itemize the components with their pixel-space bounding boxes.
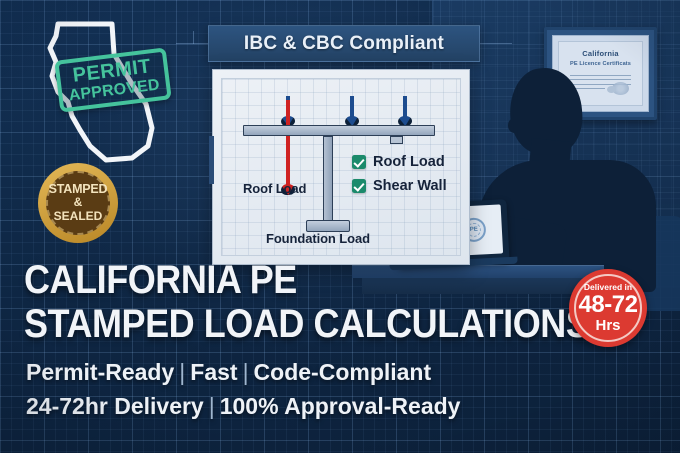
checkbox-roof-load-icon[interactable]: [352, 155, 366, 169]
headline-line-2: STAMPED LOAD CALCULATIONS: [24, 302, 589, 346]
column-element: [323, 136, 333, 224]
red-badge-line-2: 48-72: [579, 293, 638, 317]
red-badge-line-3: Hrs: [595, 318, 620, 333]
gold-badge-core: STAMPED & SEALED: [46, 171, 110, 235]
separator-2: |: [238, 359, 254, 385]
subheadline-row-1: Permit-Ready|Fast|Code-Compliant: [26, 357, 431, 387]
checklist-label-shear-wall: Shear Wall: [373, 178, 447, 194]
roof-load-label: Roof Load: [243, 181, 306, 196]
gold-badge-line-1: STAMPED: [49, 182, 108, 196]
separator-3: |: [204, 393, 220, 419]
banner-connector-drop: [193, 31, 194, 44]
feature-fast: Fast: [190, 359, 237, 385]
checklist-item-shear-wall[interactable]: Shear Wall: [352, 178, 447, 194]
gold-badge-line-2: & SEALED: [48, 196, 108, 224]
whiteboard-side-tab: [209, 136, 214, 184]
feature-code-compliant: Code-Compliant: [254, 359, 432, 385]
silhouette-ear: [508, 118, 520, 133]
subheadline-row-2: 24-72hr Delivery|100% Approval-Ready: [26, 391, 460, 421]
banner-connector-right: [479, 43, 512, 44]
compliance-banner: IBC & CBC Compliant: [208, 25, 480, 62]
red-badge-core: Delivered in 48-72 Hrs: [574, 274, 642, 342]
delivery-time-badge: Delivered in 48-72 Hrs: [566, 266, 650, 350]
stamped-sealed-badge: STAMPED & SEALED: [35, 160, 121, 246]
beam-support-block: [390, 136, 403, 144]
headline-line-1: CALIFORNIA PE: [24, 258, 589, 302]
red-badge-line-1: Delivered in: [584, 283, 632, 292]
feature-permit-ready: Permit-Ready: [26, 359, 174, 385]
checklist-label-roof-load: Roof Load: [373, 154, 445, 170]
promo-banner-image: California PE Licence Certificats: [0, 0, 680, 453]
certificate-title: California: [582, 49, 619, 58]
checkbox-shear-wall-icon[interactable]: [352, 179, 366, 193]
compliance-banner-label: IBC & CBC Compliant: [244, 33, 444, 55]
checklist-item-roof-load[interactable]: Roof Load: [352, 154, 445, 170]
headline: CALIFORNIA PE STAMPED LOAD CALCULATIONS: [24, 258, 652, 346]
foundation-load-label: Foundation Load: [266, 231, 370, 246]
feature-approval-ready: 100% Approval-Ready: [220, 393, 461, 419]
feature-delivery: 24-72hr Delivery: [26, 393, 204, 419]
certificate-subtitle: PE Licence Certificats: [570, 61, 631, 67]
separator-1: |: [174, 359, 190, 385]
beam-element: [243, 125, 435, 136]
